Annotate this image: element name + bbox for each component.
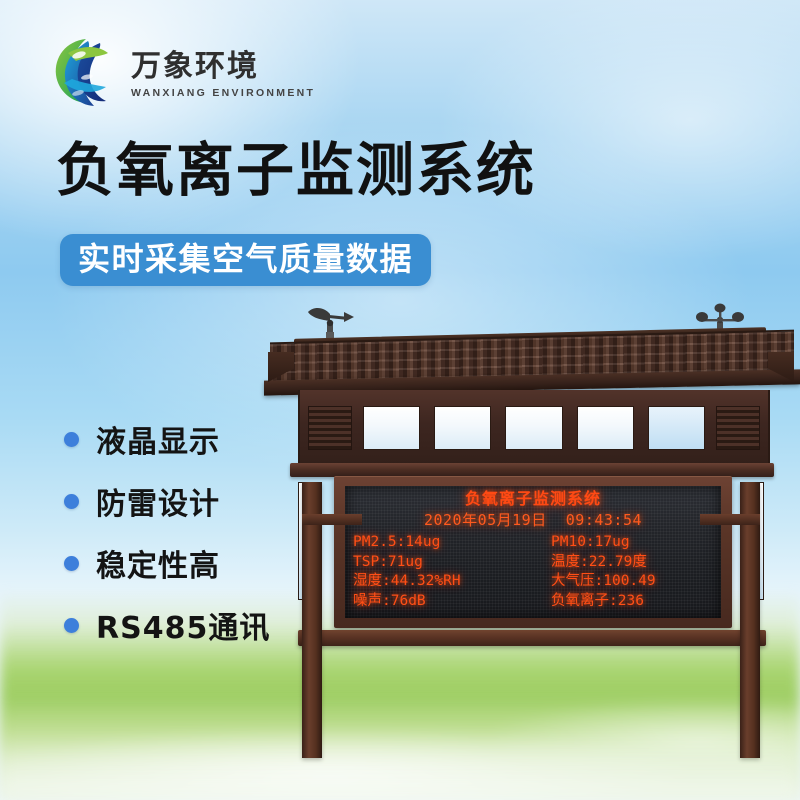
bullet-dot-icon bbox=[64, 432, 79, 447]
subtitle-text: 实时采集空气质量数据 bbox=[78, 240, 413, 278]
leg-crossbar-left bbox=[302, 514, 362, 525]
louver-vent-right bbox=[716, 406, 760, 450]
brand-logo: 万象环境 WANXIANG ENVIRONMENT bbox=[48, 33, 315, 113]
feature-label: 防雷设计 bbox=[96, 479, 220, 523]
led-reading-temperature: 温度:22.79度 bbox=[537, 553, 713, 572]
led-reading-tsp: TSP:71ug bbox=[353, 553, 529, 572]
cross-beam bbox=[290, 463, 774, 477]
feature-list: 液晶显示 防雷设计 稳定性高 RS485通讯 bbox=[64, 408, 270, 656]
window-pane bbox=[505, 406, 562, 450]
bullet-dot-icon bbox=[64, 494, 79, 509]
upper-window-band bbox=[298, 390, 770, 465]
led-reading-pressure: 大气压:100.49 bbox=[537, 572, 713, 591]
window-pane bbox=[577, 406, 634, 450]
bullet-dot-icon bbox=[64, 556, 79, 571]
led-readings-grid: PM2.5:14ug PM10:17ug TSP:71ug 温度:22.79度 … bbox=[353, 533, 713, 610]
led-reading-pm10: PM10:17ug bbox=[537, 533, 713, 552]
feature-item: 液晶显示 bbox=[64, 408, 270, 470]
feature-item: 防雷设计 bbox=[64, 470, 270, 532]
monitoring-station: 负氧离子监测系统 2020年05月19日 09:43:54 PM2.5:14ug… bbox=[262, 300, 800, 760]
bottom-rail bbox=[298, 630, 766, 646]
feature-label: RS485通讯 bbox=[96, 603, 270, 647]
subtitle-banner: 实时采集空气质量数据 bbox=[60, 234, 431, 286]
brand-name-en: WANXIANG ENVIRONMENT bbox=[131, 87, 315, 99]
led-time: 09:43:54 bbox=[566, 511, 642, 529]
brand-name-cn: 万象环境 bbox=[131, 52, 315, 82]
led-reading-negative-ions: 负氧离子:236 bbox=[537, 592, 713, 611]
window-pane bbox=[648, 406, 705, 450]
roof bbox=[270, 336, 794, 392]
window-pane bbox=[363, 406, 420, 450]
led-reading-pm25: PM2.5:14ug bbox=[353, 533, 529, 552]
led-screen: 负氧离子监测系统 2020年05月19日 09:43:54 PM2.5:14ug… bbox=[345, 486, 721, 618]
led-date: 2020年05月19日 bbox=[424, 511, 547, 529]
leg-crossbar-right bbox=[700, 514, 760, 525]
poster-stage: 万象环境 WANXIANG ENVIRONMENT 负氧离子监测系统 实时采集空… bbox=[0, 0, 800, 800]
bullet-dot-icon bbox=[64, 618, 79, 633]
led-reading-humidity: 湿度:44.32%RH bbox=[353, 572, 529, 591]
led-datetime: 2020年05月19日 09:43:54 bbox=[353, 509, 713, 530]
feature-label: 稳定性高 bbox=[96, 541, 220, 585]
led-title: 负氧离子监测系统 bbox=[353, 490, 713, 508]
feature-item: RS485通讯 bbox=[64, 594, 270, 656]
louver-vent-left bbox=[308, 406, 352, 450]
feature-label: 液晶显示 bbox=[96, 417, 220, 461]
feature-item: 稳定性高 bbox=[64, 532, 270, 594]
led-display-frame: 负氧离子监测系统 2020年05月19日 09:43:54 PM2.5:14ug… bbox=[334, 476, 732, 628]
globe-swirl-logo-icon bbox=[48, 33, 122, 113]
window-pane bbox=[434, 406, 491, 450]
page-title: 负氧离子监测系统 bbox=[56, 140, 536, 201]
led-reading-noise: 噪声:76dB bbox=[353, 592, 529, 611]
